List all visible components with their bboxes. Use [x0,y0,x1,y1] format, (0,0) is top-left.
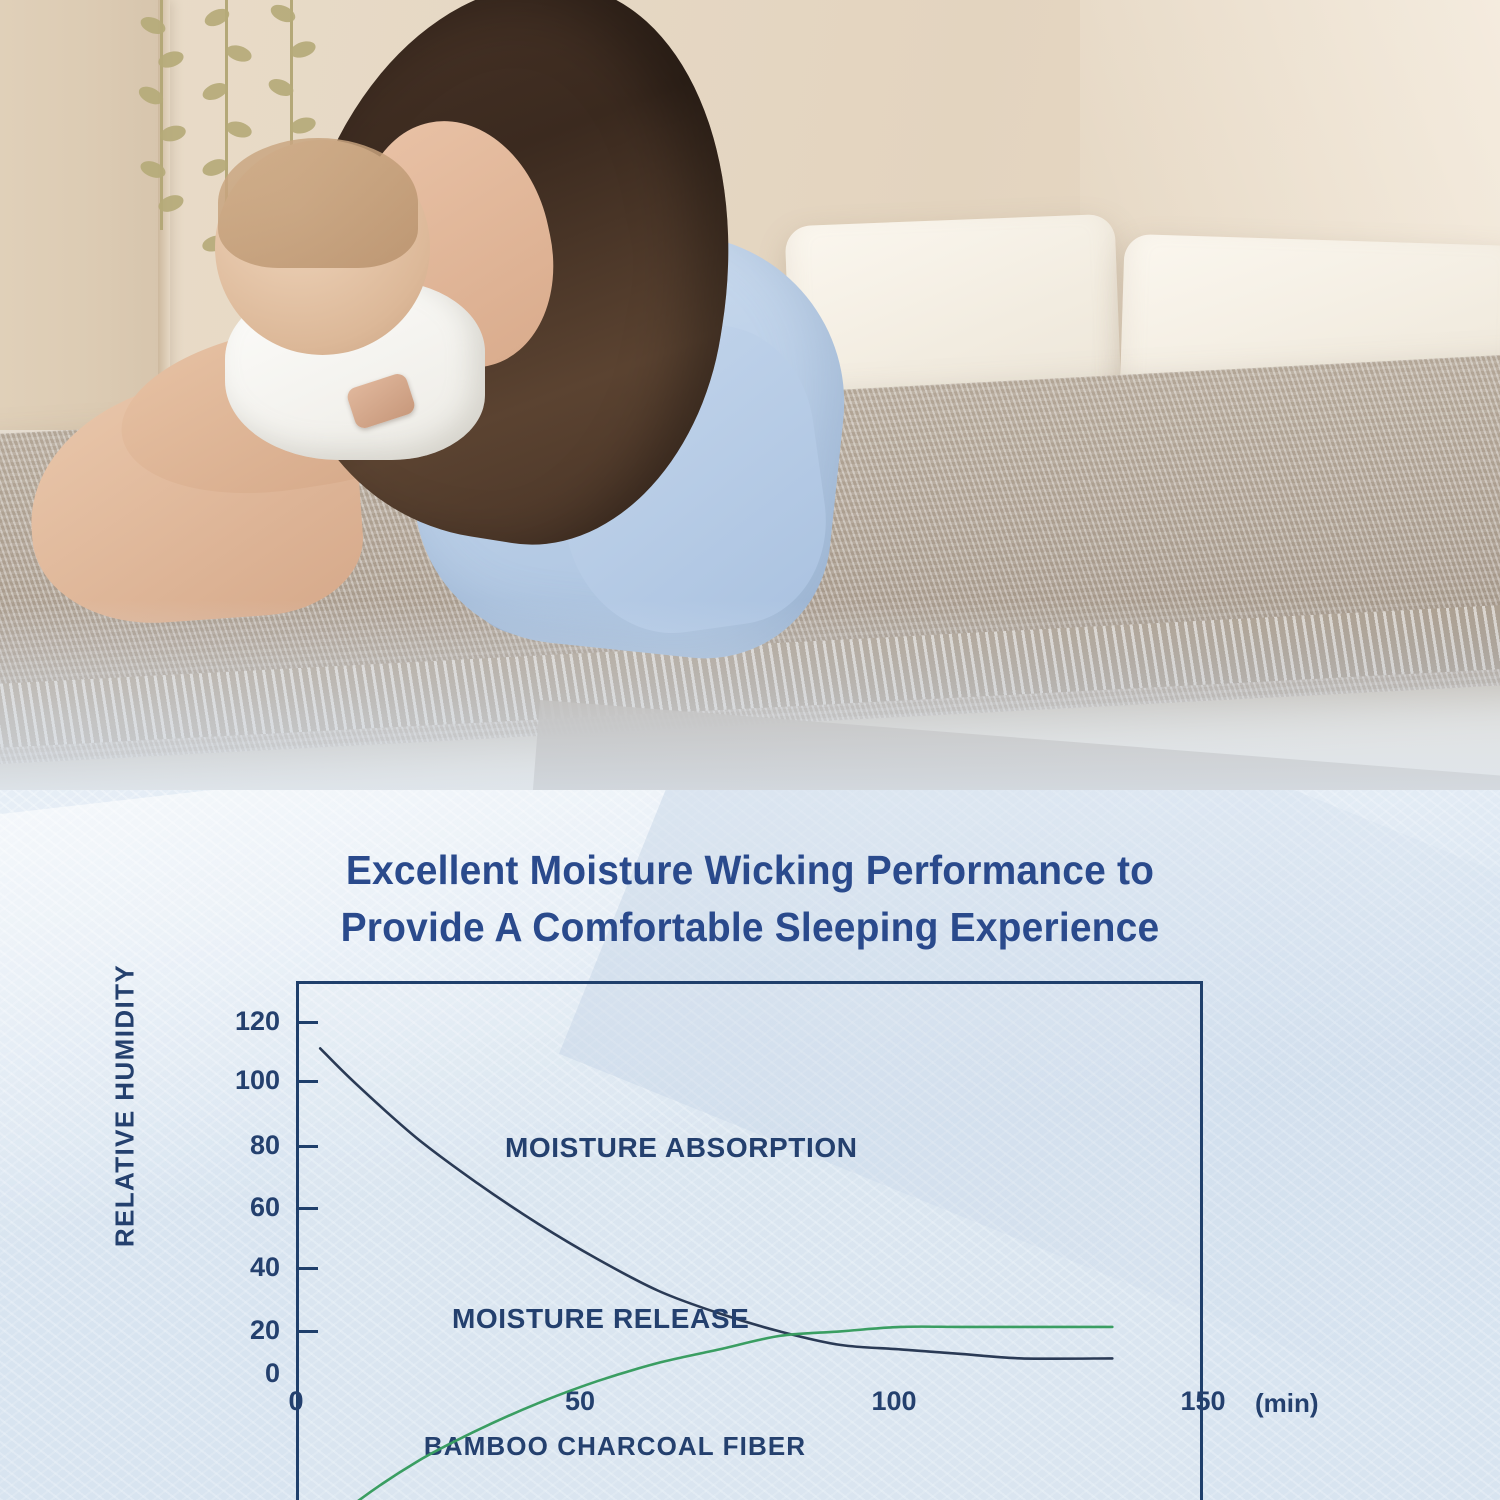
moisture-release-curve [320,1327,1112,1500]
curve-label-release: MOISTURE RELEASE [452,1303,749,1335]
curve-label-absorption: MOISTURE ABSORPTION [505,1132,858,1164]
photo-gradient-fade [0,600,1500,820]
product-infographic: Excellent Moisture Wicking Performance t… [0,0,1500,1500]
baby-hair [218,138,418,268]
moisture-wicking-chart: 120 100 80 60 40 20 0 0 50 100 150 (min)… [0,790,1500,1500]
lifestyle-photo [0,0,1500,820]
chart-panel: Excellent Moisture Wicking Performance t… [0,790,1500,1500]
